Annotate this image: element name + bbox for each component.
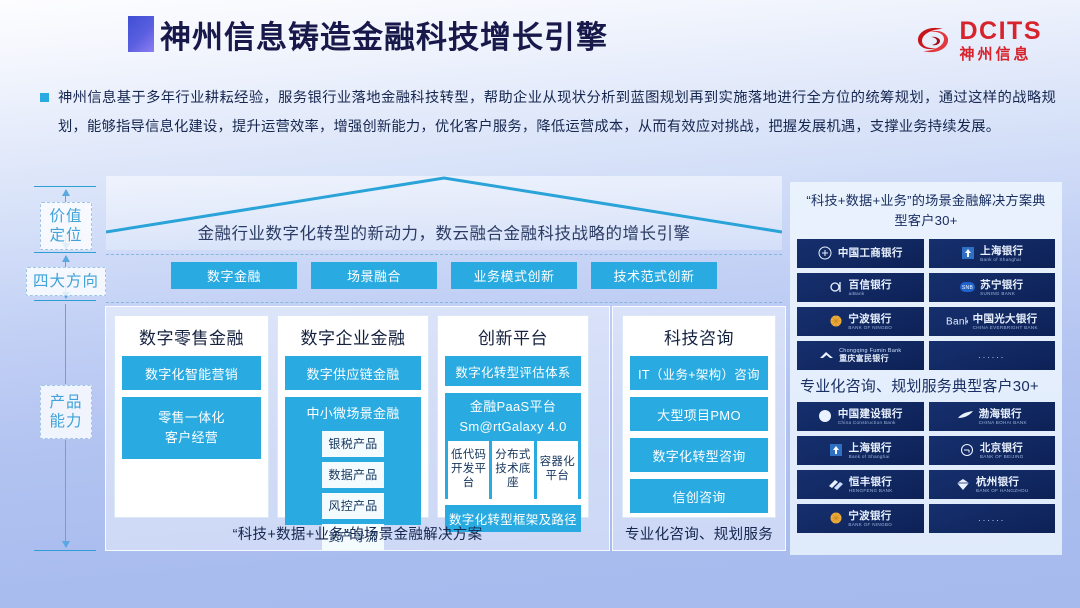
logo-en-text: DCITS — [960, 19, 1043, 44]
card-title: 创新平台 — [445, 324, 581, 349]
logo-cn: 杭州银行 — [976, 476, 1019, 488]
logo-en: China Construction Bank — [838, 420, 896, 425]
bullet-square-icon — [40, 93, 49, 102]
card-title: 数字企业金融 — [285, 324, 421, 349]
logo-cn: 渤海银行 — [979, 408, 1022, 420]
card-block[interactable]: IT（业务+架构）咨询 — [630, 356, 768, 390]
logo-cell-ccb[interactable]: 中国建设银行 China Construction Bank — [797, 402, 924, 431]
bank-of-shanghai-icon — [960, 246, 975, 261]
card-block-line2: 客户经营 — [165, 428, 218, 448]
rail-divider — [34, 550, 96, 551]
directions-dashed-separator — [106, 302, 782, 303]
svg-text:SNB: SNB — [962, 285, 974, 291]
logo-cn: 恒丰银行 — [849, 476, 892, 488]
rail-divider — [34, 186, 96, 187]
solution-panel: 数字零售金融 数字化智能营销 零售一体化 客户经营 数字企业金融 数字供应链金融… — [105, 306, 610, 551]
intro-paragraph: 神州信息基于多年行业耕耘经验，服务银行业落地金融科技转型，帮助企业从现状分析到蓝… — [40, 84, 1056, 143]
slide-header: 神州信息铸造金融科技增长引擎 DCITS 神州信息 — [0, 0, 1080, 68]
page-title: 神州信息铸造金融科技增长引擎 — [160, 12, 608, 57]
card-title: 数字零售金融 — [122, 324, 261, 349]
logo-cn: 中国建设银行 — [838, 408, 903, 420]
card-block[interactable]: 大型项目PMO — [630, 397, 768, 431]
card-digital-enterprise-finance[interactable]: 数字企业金融 数字供应链金融 中小微场景金融 银税产品 数据产品 风控产品 资产… — [277, 315, 429, 518]
bank-of-ningbo-icon — [828, 314, 843, 329]
logo-cell-more-2[interactable]: ...... — [929, 504, 1056, 533]
logo-cell-hengfeng-bank[interactable]: 恒丰银行 HENGFENG BANK — [797, 470, 924, 499]
logo-cell-icbc[interactable]: 中国工商银行 — [797, 239, 924, 268]
direction-pill-2[interactable]: 业务模式创新 — [451, 262, 577, 289]
solution-panel-caption: “科技+数据+业务”的场景金融解决方案 — [106, 523, 609, 544]
logo-cn: 北京银行 — [980, 442, 1023, 454]
rail-label-line1: 四大方向 — [33, 272, 99, 291]
logo-cell-more-1[interactable]: ...... — [929, 341, 1056, 370]
card-group-financial-paas[interactable]: 金融PaaS平台 Sm@rtGalaxy 4.0 低代码开发平台 分布式技术底座… — [445, 393, 581, 499]
ellipsis-icon: ...... — [978, 350, 1005, 360]
logo-cell-bank-of-hangzhou[interactable]: 杭州银行 BANK OF HANGZHOU — [929, 470, 1056, 499]
card-digital-retail-finance[interactable]: 数字零售金融 数字化智能营销 零售一体化 客户经营 — [114, 315, 269, 518]
title-accent-bar — [128, 16, 154, 52]
logo-en: BANK OF NINGBO — [848, 522, 892, 527]
logo-cn: 上海银行 — [980, 245, 1023, 257]
logo-cell-bank-of-ningbo[interactable]: 宁波银行 BANK OF NINGBO — [797, 307, 924, 336]
svg-text:Bank: Bank — [946, 317, 968, 328]
bank-of-ningbo-icon — [828, 511, 843, 526]
card-group-sme-scenario-finance[interactable]: 中小微场景金融 银税产品 数据产品 风控产品 资产导流 — [285, 397, 421, 525]
logo-cell-aibank[interactable]: 百信银行 aiBank — [797, 273, 924, 302]
direction-pill-row: 数字金融 场景融合 业务模式创新 技术范式创新 — [106, 262, 782, 300]
customer-heading-2: 专业化咨询、规划服务典型客户30+ — [790, 370, 1062, 402]
bank-of-shanghai-icon — [829, 443, 844, 458]
logo-en: SUNING BANK — [980, 291, 1015, 296]
card-block[interactable]: 数字化智能营销 — [122, 356, 261, 390]
logo-cn: 苏宁银行 — [980, 279, 1023, 291]
aibank-icon — [829, 280, 844, 295]
logo-en: CHINA BOHAI BANK — [979, 420, 1027, 425]
rail-label-product-capability: 产品 能力 — [40, 385, 92, 439]
logo-en: BANK OF NINGBO — [848, 325, 892, 330]
dcits-swoosh-icon — [913, 20, 953, 60]
consulting-panel: 科技咨询 IT（业务+架构）咨询 大型项目PMO 数字化转型咨询 信创咨询 专业… — [612, 306, 786, 551]
rail-divider — [34, 300, 96, 301]
logo-cell-bohai-bank[interactable]: 渤海银行 CHINA BOHAI BANK — [929, 402, 1056, 431]
logo-cell-bank-of-shanghai-2[interactable]: 上海银行 Bank of Shanghai — [797, 436, 924, 465]
paas-line2: Sm@rtGalaxy 4.0 — [459, 417, 566, 437]
dcits-logo: DCITS 神州信息 — [913, 18, 1043, 62]
logo-cn: 中国工商银行 — [838, 247, 903, 259]
paas-line1: 金融PaaS平台 — [470, 397, 556, 417]
rail-label-line1: 价值 — [49, 207, 82, 226]
rail-label-four-directions: 四大方向 — [26, 267, 106, 296]
card-block[interactable]: 信创咨询 — [630, 479, 768, 513]
logo-cn: 宁波银行 — [848, 313, 891, 325]
direction-pill-3[interactable]: 技术范式创新 — [591, 262, 717, 289]
card-subitem[interactable]: 数据产品 — [322, 462, 384, 488]
ellipsis-icon: ...... — [978, 513, 1005, 523]
logo-cell-everbright[interactable]: Bank 中国光大银行 CHINA EVERBRIGHT BANK — [929, 307, 1056, 336]
logo-cell-fumin-bank[interactable]: Chongqing Fumin Bank 重庆富民银行 — [797, 341, 924, 370]
card-innovation-platform[interactable]: 创新平台 数字化转型评估体系 金融PaaS平台 Sm@rtGalaxy 4.0 … — [437, 315, 589, 518]
slide-canvas: 神州信息铸造金融科技增长引擎 DCITS 神州信息 神州信息基于多年行业耕耘经验… — [0, 0, 1080, 608]
roof-slogan: 金融行业数字化转型的新动力，数云融合金融科技战略的增长引擎 — [106, 220, 782, 244]
card-title: 科技咨询 — [630, 324, 768, 349]
logo-en: HENGFENG BANK — [849, 488, 893, 493]
solution-card-row: 数字零售金融 数字化智能营销 零售一体化 客户经营 数字企业金融 数字供应链金融… — [114, 315, 589, 518]
consulting-panel-caption: 专业化咨询、规划服务 — [613, 523, 785, 544]
card-subitem[interactable]: 银税产品 — [322, 431, 384, 457]
logo-cn: 中国光大银行 — [973, 313, 1038, 325]
card-block[interactable]: 数字化转型评估体系 — [445, 356, 581, 386]
direction-pill-0[interactable]: 数字金融 — [171, 262, 297, 289]
fumin-bank-icon — [819, 348, 834, 363]
logo-cell-suning-bank[interactable]: SNB 苏宁银行 SUNING BANK — [929, 273, 1056, 302]
bank-of-hangzhou-icon — [955, 477, 971, 492]
logo-en: BANK OF HANGZHOU — [976, 488, 1029, 493]
logo-cn: 重庆富民银行 — [839, 354, 889, 363]
everbright-icon: Bank — [946, 314, 968, 329]
rail-connector — [65, 304, 66, 384]
direction-pill-1[interactable]: 场景融合 — [311, 262, 437, 289]
logo-en: Bank of Shanghai — [849, 454, 890, 459]
logo-cn: 百信银行 — [849, 279, 892, 291]
card-block-line1: 零售一体化 — [158, 408, 225, 428]
rail-label-line2: 能力 — [49, 412, 82, 431]
rail-label-value-position: 价值 定位 — [40, 202, 92, 250]
suning-bank-icon: SNB — [960, 280, 975, 295]
card-subitem[interactable]: 风控产品 — [322, 493, 384, 519]
card-group-label: 中小微场景金融 — [306, 404, 399, 424]
customer-logo-panel: “科技+数据+业务”的场景金融解决方案典型客户30+ 中国工商银行 上海银行 B… — [790, 182, 1062, 555]
rail-label-line2: 定位 — [49, 226, 82, 245]
rail-arrow-down — [65, 440, 66, 547]
card-technology-consulting[interactable]: 科技咨询 IT（业务+架构）咨询 大型项目PMO 数字化转型咨询 信创咨询 — [622, 315, 776, 518]
logo-cn-text: 神州信息 — [960, 47, 1043, 62]
logo-cell-bank-of-shanghai[interactable]: 上海银行 Bank of Shanghai — [929, 239, 1056, 268]
roof-dashed-separator — [106, 254, 782, 255]
ccb-icon — [818, 409, 833, 424]
rail-divider — [34, 252, 96, 253]
logo-cell-bank-of-ningbo-2[interactable]: 宁波银行 BANK OF NINGBO — [797, 504, 924, 533]
logo-en: aiBank — [849, 291, 865, 296]
bank-of-beijing-icon — [960, 443, 975, 458]
hengfeng-bank-icon — [828, 477, 844, 492]
card-block-two-line[interactable]: 零售一体化 客户经营 — [122, 397, 261, 459]
logo-en: Bank of Shanghai — [980, 257, 1021, 262]
icbc-icon — [818, 246, 833, 261]
paas-subitem[interactable]: 分布式技术底座 — [492, 441, 533, 499]
logo-en: BANK OF BEIJING — [980, 454, 1024, 459]
logo-en: CHINA EVERBRIGHT BANK — [973, 325, 1038, 330]
logo-cell-bank-of-beijing[interactable]: 北京银行 BANK OF BEIJING — [929, 436, 1056, 465]
customer-logo-grid-2: 中国建设银行 China Construction Bank 渤海银行 CHIN… — [790, 402, 1062, 533]
card-block[interactable]: 数字供应链金融 — [285, 356, 421, 390]
customer-logo-grid-1: 中国工商银行 上海银行 Bank of Shanghai 百信银行 aiBank — [790, 239, 1062, 370]
paas-subitem-row: 低代码开发平台 分布式技术底座 容器化平台 — [445, 437, 581, 499]
card-block[interactable]: 数字化转型咨询 — [630, 438, 768, 472]
intro-text: 神州信息基于多年行业耕耘经验，服务银行业落地金融科技转型，帮助企业从现状分析到蓝… — [58, 84, 1056, 143]
bohai-bank-icon — [957, 409, 974, 424]
logo-cn: 上海银行 — [849, 442, 892, 454]
paas-subitem[interactable]: 容器化平台 — [537, 441, 578, 499]
roof-banner: 金融行业数字化转型的新动力，数云融合金融科技战略的增长引擎 — [106, 176, 782, 250]
logo-cn: 宁波银行 — [848, 510, 891, 522]
paas-subitem[interactable]: 低代码开发平台 — [448, 441, 489, 499]
customer-heading-1: “科技+数据+业务”的场景金融解决方案典型客户30+ — [790, 182, 1062, 239]
rail-label-line1: 产品 — [49, 393, 82, 412]
consulting-card-row: 科技咨询 IT（业务+架构）咨询 大型项目PMO 数字化转型咨询 信创咨询 — [622, 315, 776, 518]
